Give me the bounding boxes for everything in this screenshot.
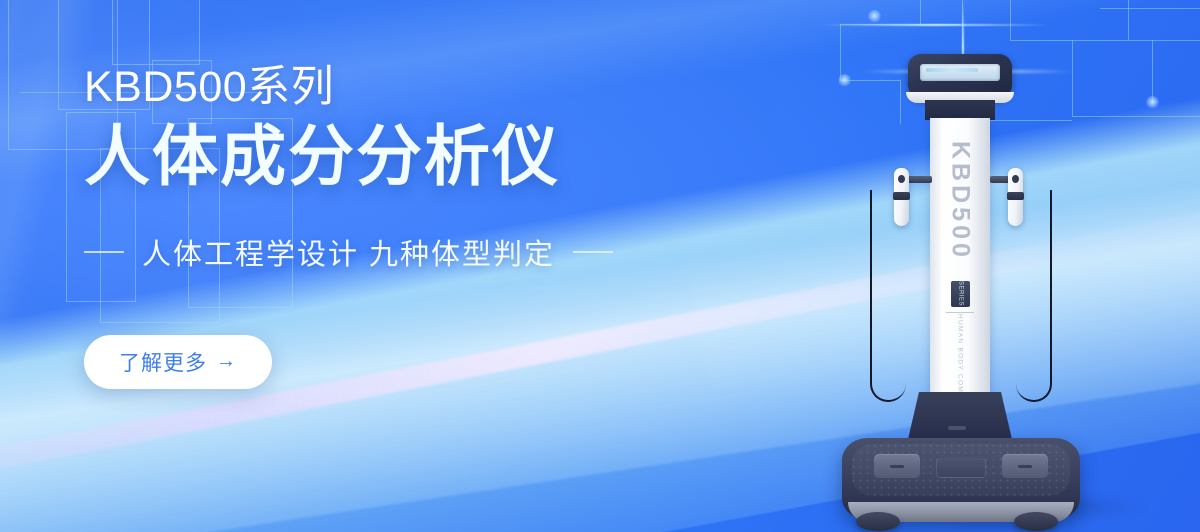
- banner-copy: KBD500系列 人体成分分析仪 人体工程学设计 九种体型判定 了解更多 →: [84, 64, 704, 389]
- handle-button-icon: [1012, 175, 1019, 183]
- circuit-trace: [1128, 0, 1129, 40]
- learn-more-button[interactable]: 了解更多 →: [84, 335, 272, 389]
- wireframe-rectangle: [112, 0, 200, 65]
- device-arm-left: [906, 176, 932, 183]
- device-column: KBD500 SERIES HUMAN BODY COMPOSITION ANA…: [930, 118, 990, 400]
- circuit-trace: [1010, 0, 1011, 40]
- learn-more-label: 了解更多: [119, 347, 207, 377]
- device-display-screen: [920, 64, 1000, 81]
- device-neck: [925, 100, 995, 120]
- handle-button-icon: [898, 175, 905, 183]
- device-support-foot-left: [856, 512, 900, 531]
- product-banner: KBD500系列 人体成分分析仪 人体工程学设计 九种体型判定 了解更多 → K…: [0, 0, 1200, 532]
- device-foot-electrode-right: [1002, 454, 1048, 478]
- device-foot-electrode-left: [874, 454, 920, 478]
- arrow-right-icon: →: [216, 350, 237, 373]
- device-brand-text-wrap: KBD500: [930, 126, 990, 276]
- device-pedestal-slot: [948, 426, 966, 430]
- device-divider: [946, 312, 974, 313]
- glow-line: [820, 24, 1050, 26]
- product-device-image: KBD500 SERIES HUMAN BODY COMPOSITION ANA…: [822, 40, 1182, 532]
- device-base-center-slot: [936, 458, 986, 478]
- circuit-node-dot: [868, 10, 881, 23]
- handle-grip-band: [1007, 192, 1024, 200]
- circuit-trace: [840, 24, 960, 25]
- banner-headline: 人体成分分析仪: [84, 119, 704, 194]
- device-brand-text: KBD500: [946, 141, 975, 261]
- device-series-badge: SERIES: [951, 281, 970, 307]
- banner-subtitle: 人体工程学设计 九种体型判定: [142, 231, 555, 273]
- circuit-trace: [1100, 8, 1200, 9]
- handle-grip-band: [893, 192, 910, 200]
- product-series-label: KBD500系列: [84, 64, 704, 110]
- device-handle-right: [1008, 168, 1023, 226]
- circuit-trace: [920, 0, 921, 24]
- device-handle-left: [894, 168, 909, 226]
- dash-right-icon: [573, 251, 613, 253]
- device-support-foot-right: [1014, 512, 1058, 531]
- dash-left-icon: [84, 251, 124, 253]
- banner-subtitle-row: 人体工程学设计 九种体型判定: [84, 231, 704, 273]
- device-series-badge-label: SERIES: [958, 281, 964, 306]
